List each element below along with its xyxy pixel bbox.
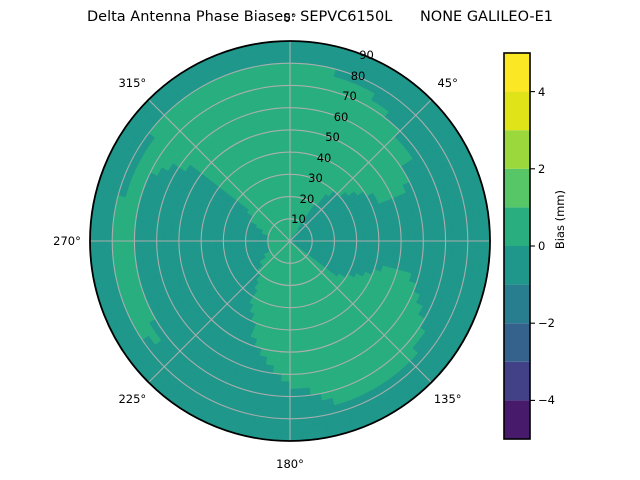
colorbar-band xyxy=(504,207,530,246)
angular-tick-45: 45° xyxy=(437,76,457,90)
polar-gridlines xyxy=(90,41,490,441)
colorbar-tick-label-0: 4 xyxy=(538,85,545,99)
angular-tick-135: 135° xyxy=(434,392,462,406)
colorbar-tick-label-4: −4 xyxy=(538,393,555,407)
colorbar-band xyxy=(504,130,530,169)
colorbar-bands xyxy=(504,53,530,439)
radial-tick-30: 30 xyxy=(308,171,323,185)
colorbar xyxy=(495,40,615,460)
colorbar-band xyxy=(504,53,530,92)
radial-tick-80: 80 xyxy=(351,69,366,83)
figure-canvas: Delta Antenna Phase Biases: SEPVC6150L N… xyxy=(0,0,640,480)
angular-tick-270: 270° xyxy=(53,234,81,248)
radial-tick-50: 50 xyxy=(325,130,340,144)
colorbar-band xyxy=(504,323,530,362)
radial-tick-60: 60 xyxy=(334,110,349,124)
colorbar-band xyxy=(504,400,530,439)
angular-tick-0: 0° xyxy=(283,11,296,25)
radial-tick-70: 70 xyxy=(342,89,357,103)
angular-tick-225: 225° xyxy=(118,392,146,406)
radial-tick-10: 10 xyxy=(291,212,306,226)
colorbar-band xyxy=(504,169,530,208)
colorbar-band xyxy=(504,362,530,401)
radial-tick-20: 20 xyxy=(300,192,315,206)
colorbar-band xyxy=(504,92,530,131)
colorbar-band xyxy=(504,285,530,324)
colorbar-band xyxy=(504,246,530,285)
colorbar-tick-label-1: 2 xyxy=(538,162,545,176)
colorbar-axis-label: Bias (mm) xyxy=(553,190,567,249)
colorbar-tick-label-2: 0 xyxy=(538,239,545,253)
radial-tick-90: 90 xyxy=(359,48,374,62)
colorbar-tick-label-3: −2 xyxy=(538,316,555,330)
angular-tick-315: 315° xyxy=(118,76,146,90)
radial-tick-40: 40 xyxy=(317,151,332,165)
angular-tick-180: 180° xyxy=(276,457,304,471)
